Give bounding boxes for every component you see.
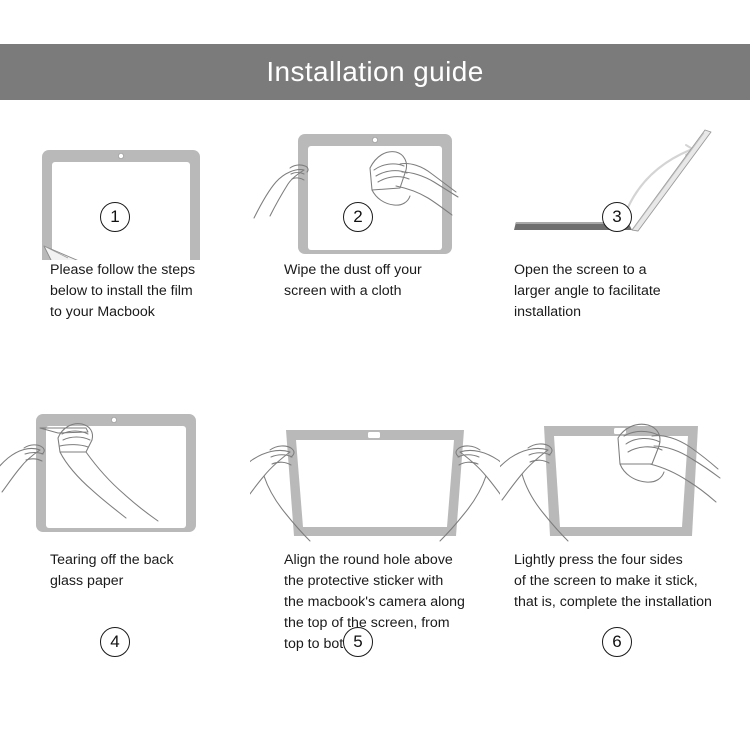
steps-grid: Please follow the steps below to install… <box>0 112 750 692</box>
two-hands-aligning-film-icon <box>250 402 500 550</box>
step-3-caption: Open the screen to a larger angle to fac… <box>514 260 750 323</box>
page-title: Installation guide <box>266 56 483 88</box>
step-6-illustration <box>500 402 750 550</box>
step-number-badge-4: 4 <box>100 627 130 657</box>
step-5-badge-row: 5 <box>250 627 500 667</box>
step-number-2: 2 <box>353 207 362 227</box>
step-2-caption: Wipe the dust off your screen with a clo… <box>284 260 500 302</box>
step-number-badge-3: 3 <box>602 202 632 232</box>
step-number-badge-6: 6 <box>602 627 632 657</box>
step-number-4: 4 <box>110 632 119 652</box>
step-2-badge-row: 2 <box>250 202 500 242</box>
step-card-3: Open the screen to a larger angle to fac… <box>500 112 750 402</box>
step-1-caption: Please follow the steps below to install… <box>50 260 250 323</box>
hands-pressing-four-sides-icon <box>500 402 750 550</box>
step-card-1: Please follow the steps below to install… <box>0 112 250 402</box>
step-card-6: Lightly press the four sides of the scre… <box>500 402 750 692</box>
hands-tearing-back-paper-icon <box>0 402 250 550</box>
step-card-2: Wipe the dust off your screen with a clo… <box>250 112 500 402</box>
step-number-5: 5 <box>353 632 362 652</box>
step-number-badge-2: 2 <box>343 202 373 232</box>
step-4-illustration <box>0 402 250 550</box>
step-card-4: Tearing off the back glass paper 4 <box>0 402 250 692</box>
step-number-6: 6 <box>612 632 621 652</box>
step-number-3: 3 <box>612 207 621 227</box>
step-5-illustration <box>250 402 500 550</box>
step-6-caption: Lightly press the four sides of the scre… <box>514 550 750 613</box>
step-number-1: 1 <box>110 207 119 227</box>
step-4-badge-row: 4 <box>0 627 250 667</box>
header-banner: Installation guide <box>0 44 750 100</box>
step-number-badge-1: 1 <box>100 202 130 232</box>
step-6-badge-row: 6 <box>500 627 750 667</box>
step-number-badge-5: 5 <box>343 627 373 657</box>
step-4-caption: Tearing off the back glass paper <box>50 550 250 592</box>
step-card-5: Align the round hole above the protectiv… <box>250 402 500 692</box>
step-3-badge-row: 3 <box>500 202 750 242</box>
step-1-badge-row: 1 <box>0 202 250 242</box>
